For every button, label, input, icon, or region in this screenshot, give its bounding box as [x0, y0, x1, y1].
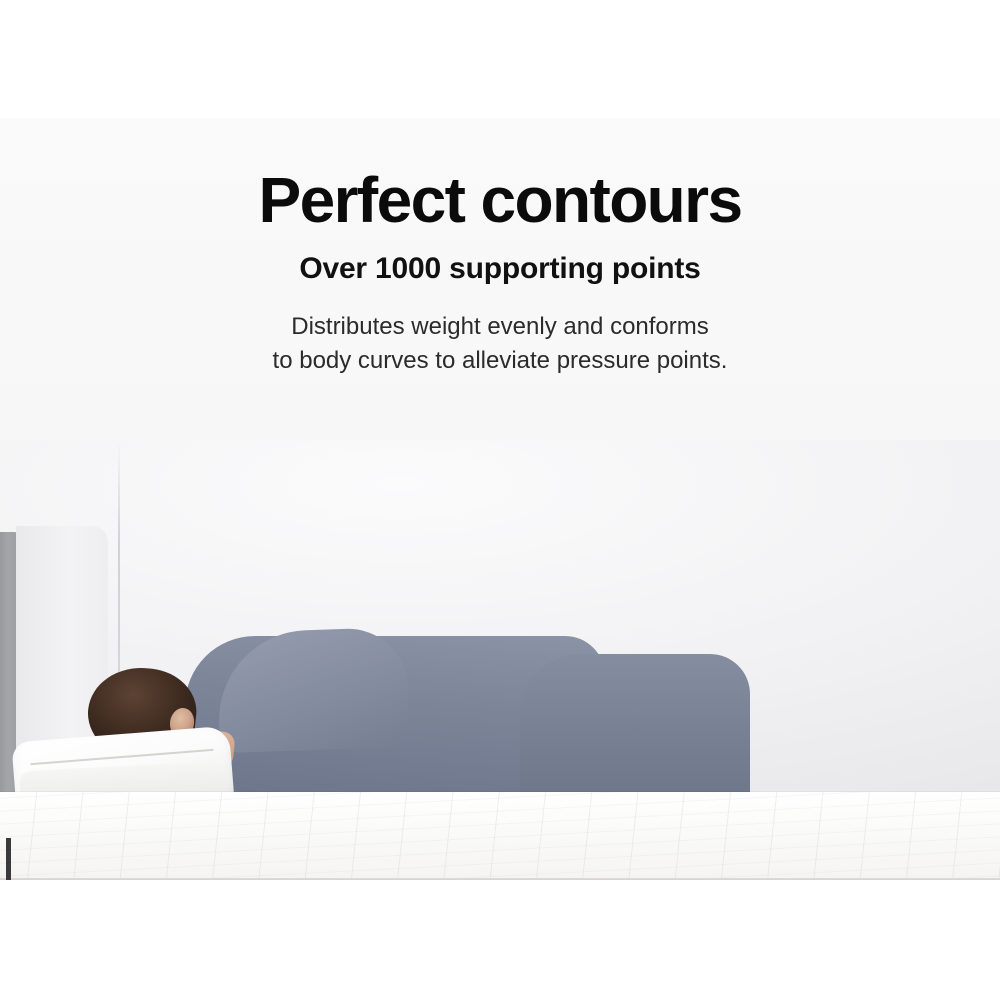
bed-base — [0, 878, 1000, 880]
mattress — [0, 792, 1000, 880]
subtitle: Over 1000 supporting points — [0, 252, 1000, 285]
bedroom-photo-scene — [0, 440, 1000, 880]
description-text: Distributes weight evenly and conforms t… — [0, 310, 1000, 378]
mattress-quilt-texture — [0, 792, 1000, 880]
product-infographic-poster: Perfect contours Over 1000 supporting po… — [0, 0, 1000, 1000]
bed-leg — [6, 838, 11, 880]
description-line-2: to body curves to alleviate pressure poi… — [0, 344, 1000, 378]
page-title: Perfect contours — [0, 168, 1000, 232]
zone-divider-5 — [0, 890, 1000, 1000]
description-line-1: Distributes weight evenly and conforms — [0, 310, 1000, 344]
top-background-band — [0, 0, 1000, 118]
